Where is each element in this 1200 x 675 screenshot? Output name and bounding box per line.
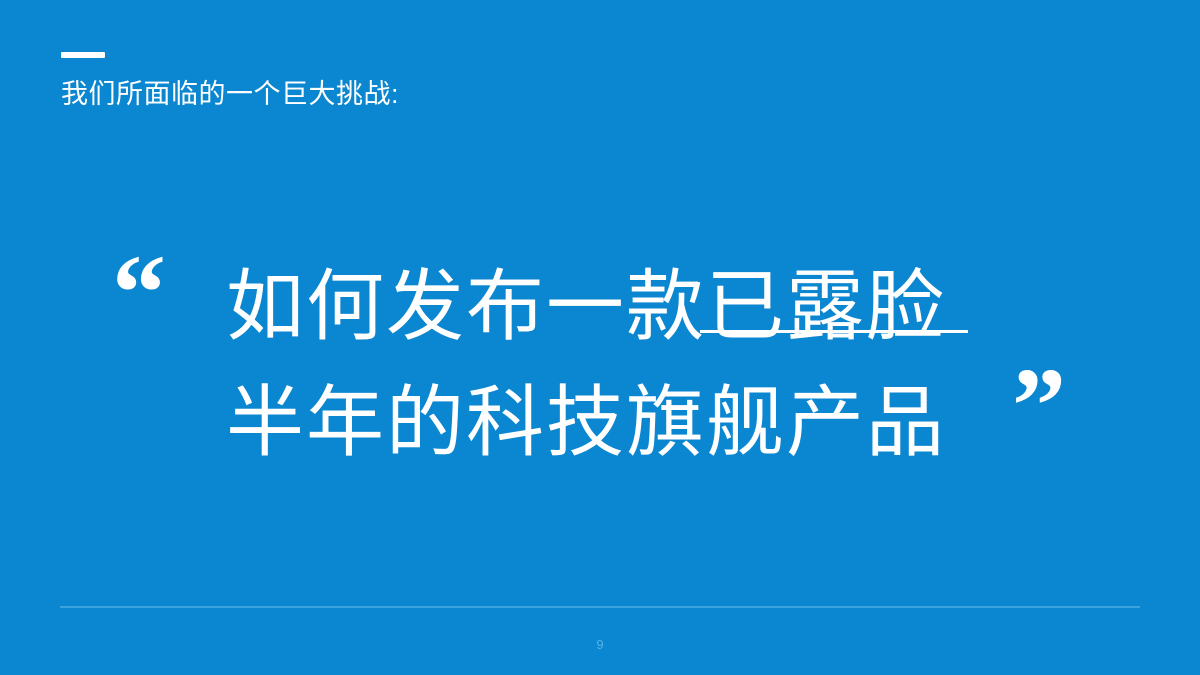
quote-open-icon: “ (112, 240, 166, 348)
accent-bar-icon (61, 52, 105, 58)
quote-line-1: 如何发布一款已露脸 (226, 248, 946, 364)
quote-underline (700, 330, 968, 333)
slide-canvas: 我们所面临的一个巨大挑战: “ 如何发布一款已露脸 半年的科技旗舰产品 ” 9 (0, 0, 1200, 675)
quote-text: 如何发布一款已露脸 半年的科技旗舰产品 (226, 248, 946, 480)
quote-line-2: 半年的科技旗舰产品 (226, 364, 946, 480)
page-number: 9 (0, 637, 1200, 652)
slide-header-title: 我们所面临的一个巨大挑战: (61, 78, 399, 110)
footer-divider (60, 606, 1140, 608)
slide-header: 我们所面临的一个巨大挑战: (61, 52, 399, 110)
quote-close-icon: ” (1012, 353, 1066, 461)
quote-block: “ 如何发布一款已露脸 半年的科技旗舰产品 ” (0, 248, 1200, 478)
